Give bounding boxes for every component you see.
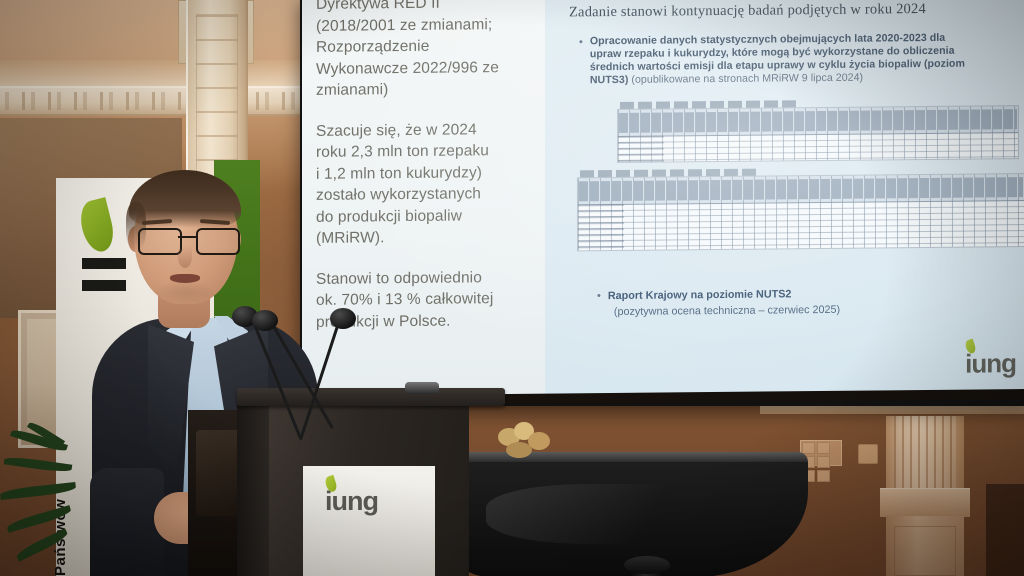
microphone-capsule [252, 310, 278, 331]
slide-left-line: (MRiRW). [316, 226, 531, 250]
bullet-2-subtitle: (pozytywna ocena techniczna – czerwiec 2… [608, 303, 840, 319]
microphone-base [405, 382, 439, 394]
table-first-column [578, 204, 624, 250]
paragraph-gap [316, 99, 531, 120]
iung-logo-slide: iung [965, 348, 1016, 379]
table-nuts3-kukurydza [577, 173, 1024, 251]
bullet-item-2: • Raport Krajowy na poziomie NUTS2 (pozy… [597, 287, 840, 319]
iung-logo-podium: iung [325, 486, 378, 517]
podium-desktop [237, 388, 505, 406]
bullet-item-1: • Opracowanie danych statystycznych obej… [579, 31, 1018, 87]
nose [178, 246, 192, 268]
chin-shadow [154, 280, 216, 304]
fern-frond [15, 528, 70, 562]
paragraph-gap [316, 247, 531, 268]
slide-left-line: roku 2,3 mln ton rzepaku [316, 140, 531, 164]
flower-arrangement [494, 418, 556, 462]
bullet-1-line: NUTS3) [590, 74, 629, 86]
slide-left-line: Szacuje się, że w 2024 [316, 118, 531, 142]
slide-left-line: Stanowi to odpowiednio [316, 266, 531, 290]
podium-side-panel [237, 404, 271, 576]
slide-left-line: Wykonawcze 2022/996 ze [316, 56, 531, 80]
slide-left-line: ok. 70% i 13 % całkowitej [316, 288, 531, 312]
bullet-2-title: Raport Krajowy na poziomie NUTS2 [608, 288, 792, 302]
table-nuts3-rzepak [617, 105, 1019, 163]
slide-left-line: zostało wykorzystanych [316, 183, 531, 207]
slide-panel-right: Zadanie stanowi kontynuację badań podjęt… [545, 0, 1024, 396]
table-row-lines [578, 200, 1024, 250]
table-first-column [618, 136, 664, 162]
bullet-dot-icon: • [579, 35, 583, 87]
bullet-dot-icon: • [597, 289, 601, 319]
glasses-lens-right [196, 228, 240, 255]
fern-frond [0, 482, 76, 500]
slide-panel-left: Dyrektywa RED II (2018/2001 ze zmianami;… [302, 0, 545, 398]
cornice-upper [0, 60, 326, 88]
flower-bloom [506, 442, 532, 458]
slide-left-line: i 1,2 mln ton kukurydzy) [316, 161, 531, 185]
slide-left-line: Rozporządzenie [316, 35, 531, 59]
bullet-1-text: Opracowanie danych statystycznych obejmu… [590, 32, 965, 87]
bullet-1-tail: (opublikowane na stronach MRiRW 9 lipca … [628, 71, 863, 85]
bullet-1-line: średnich wartości emisji dla etapu upraw… [590, 57, 965, 73]
slide-left-line: do produkcji biopaliw [316, 204, 531, 228]
bullet-2-text: Raport Krajowy na poziomie NUTS2 (pozyty… [608, 287, 840, 319]
fern-frond [4, 455, 73, 473]
slide-left-line: (2018/2001 ze zmianami; [316, 13, 531, 37]
slide-left-line: zmianami) [316, 78, 531, 102]
piano-leg [630, 564, 664, 576]
projection-screen: Dyrektywa RED II (2018/2001 ze zmianami;… [302, 0, 1024, 398]
piano-reflection [486, 484, 736, 544]
microphone-capsule [330, 308, 356, 329]
podium-logo-plate [303, 466, 435, 576]
presentation-photo: Dyrektywa RED II (2018/2001 ze zmianami;… [0, 0, 1024, 576]
ornate-cornice-moulding [0, 86, 326, 116]
fern-plant [0, 430, 108, 576]
table-row-lines [618, 132, 1018, 162]
slide-title: Zadanie stanowi kontynuację badań podjęt… [569, 0, 1018, 21]
grand-piano [452, 452, 808, 576]
glasses-lens-left [138, 228, 182, 255]
glasses-bridge [178, 236, 196, 238]
